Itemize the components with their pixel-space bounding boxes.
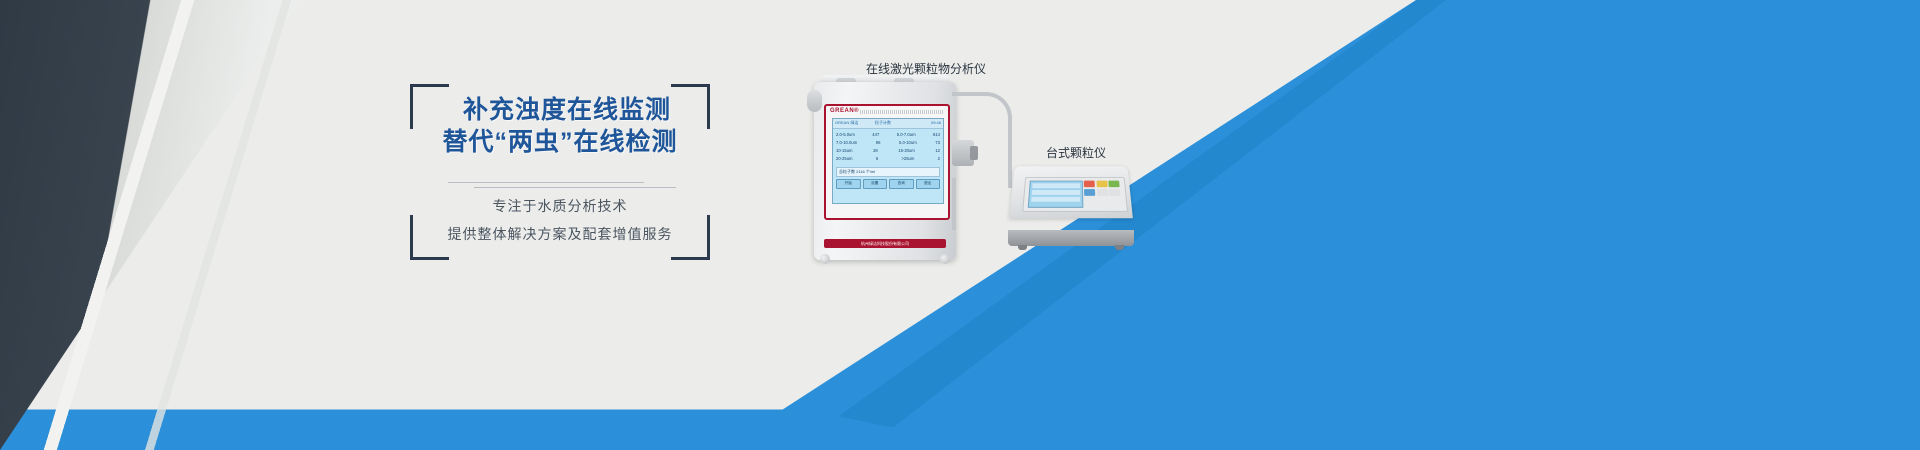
- cell-count-a: 96: [876, 139, 881, 147]
- benchtop-keypad[interactable]: [1084, 181, 1123, 196]
- keypad-key-green[interactable]: [1108, 181, 1119, 188]
- cell-count-b: 73: [935, 139, 940, 147]
- cell-size-a: 2.0-5.0um: [836, 131, 855, 139]
- analyzer-lcd-screen[interactable]: GREAN 绿洁 粒子计数 09:46 2.0-5.0um 447 5.0-7.…: [832, 118, 944, 204]
- benchtop-particle-counter: [1008, 164, 1134, 246]
- benchtop-base: [1008, 230, 1134, 246]
- benchtop-display[interactable]: [1028, 181, 1084, 208]
- screen-measurement-table: 2.0-5.0um 447 5.0-7.0um 614 7.0-10.0um 9…: [833, 129, 943, 165]
- background-light-streak-two: [20, 0, 320, 450]
- hero-banner: 补充浊度在线监测 替代“两虫”在线检测 专注于水质分析技术 提供整体解决方案及配…: [0, 0, 1920, 450]
- divider-line-upper: [448, 182, 644, 183]
- benchtop-display-line: [1031, 197, 1080, 202]
- benchtop-control-face: [1022, 177, 1128, 212]
- keypad-key-white[interactable]: [1109, 189, 1121, 196]
- cell-count-a: 28: [873, 147, 878, 155]
- subtitle-line-2: 提供整体解决方案及配套增值服务: [410, 224, 710, 244]
- screen-button-row: 开始 设置 查询 退出: [836, 179, 940, 189]
- table-row: 2.0-5.0um 447 5.0-7.0um 614: [836, 131, 940, 139]
- headline-line-1: 补充浊度在线监测: [410, 94, 710, 126]
- cell-size-b: >25um: [901, 155, 914, 163]
- connecting-tube-lower: [952, 178, 956, 230]
- product-photo-group: GREAN® GREAN 绿洁 粒子计数 09:46 2.0-5.0um 447…: [806, 78, 1146, 268]
- screen-button-start[interactable]: 开始: [836, 179, 861, 189]
- cell-size-a: 10-15um: [836, 147, 853, 155]
- analyzer-screw-left: [820, 254, 830, 264]
- cell-count-b: 614: [933, 131, 940, 139]
- cell-size-a: 20-25um: [836, 155, 853, 163]
- screen-button-query[interactable]: 查询: [889, 179, 914, 189]
- benchtop-housing: [1009, 166, 1133, 218]
- cell-size-b: 5.0-10um: [899, 139, 917, 147]
- keypad-key-yellow[interactable]: [1096, 181, 1107, 188]
- screen-button-settings[interactable]: 设置: [863, 179, 888, 189]
- headline-divider: [448, 182, 676, 185]
- headline-block: 补充浊度在线监测 替代“两虫”在线检测 专注于水质分析技术 提供整体解决方案及配…: [410, 84, 710, 260]
- analyzer-screw-right: [940, 254, 950, 264]
- divider-line-lower: [474, 187, 676, 188]
- keypad-key-white[interactable]: [1096, 189, 1107, 196]
- keypad-key-red[interactable]: [1084, 181, 1095, 188]
- analyzer-company-nameplate: 杭州绿洁科技股份有限公司: [824, 239, 946, 248]
- analyzer-brand-logo: GREAN®: [830, 108, 859, 114]
- benchtop-foot-left: [1018, 245, 1027, 250]
- online-laser-particle-analyzer: GREAN® GREAN 绿洁 粒子计数 09:46 2.0-5.0um 447…: [814, 82, 956, 260]
- analyzer-latch-knob: [807, 90, 822, 112]
- screen-status-bar: 总粒子数 2116 个/ml: [836, 167, 940, 177]
- keypad-key-blue[interactable]: [1084, 189, 1095, 196]
- benchtop-display-line: [1032, 190, 1080, 195]
- screen-title-bar: GREAN 绿洁 粒子计数 09:46: [833, 119, 943, 129]
- screen-button-exit[interactable]: 退出: [916, 179, 941, 189]
- cell-size-b: 15-20um: [898, 147, 915, 155]
- cell-count-a: 447: [872, 131, 879, 139]
- screen-header-right: 09:46: [931, 120, 941, 125]
- table-row: 20-25um 6 >25um 2: [836, 155, 940, 163]
- headline-text: 补充浊度在线监测 替代“两虫”在线检测: [410, 94, 710, 158]
- cell-count-b: 12: [935, 147, 940, 155]
- benchtop-display-line: [1032, 183, 1080, 188]
- connecting-tube: [952, 92, 1012, 188]
- table-row: 7.0-10.0um 96 5.0-10um 73: [836, 139, 940, 147]
- cell-size-b: 5.0-7.0um: [897, 131, 916, 139]
- table-row: 10-15um 28 15-20um 12: [836, 147, 940, 155]
- analyzer-vent-grille: [860, 110, 944, 114]
- cell-size-a: 7.0-10.0um: [836, 139, 857, 147]
- screen-header-left: GREAN 绿洁: [835, 120, 858, 126]
- cell-count-a: 6: [876, 155, 878, 163]
- headline-line-2: 替代“两虫”在线检测: [410, 126, 710, 158]
- subtitle-line-1: 专注于水质分析技术: [410, 196, 710, 216]
- benchtop-foot-right: [1115, 245, 1124, 250]
- analyzer-front-panel: GREAN® GREAN 绿洁 粒子计数 09:46 2.0-5.0um 447…: [824, 104, 950, 220]
- cell-count-b: 2: [938, 155, 940, 163]
- screen-header-center: 粒子计数: [875, 120, 891, 126]
